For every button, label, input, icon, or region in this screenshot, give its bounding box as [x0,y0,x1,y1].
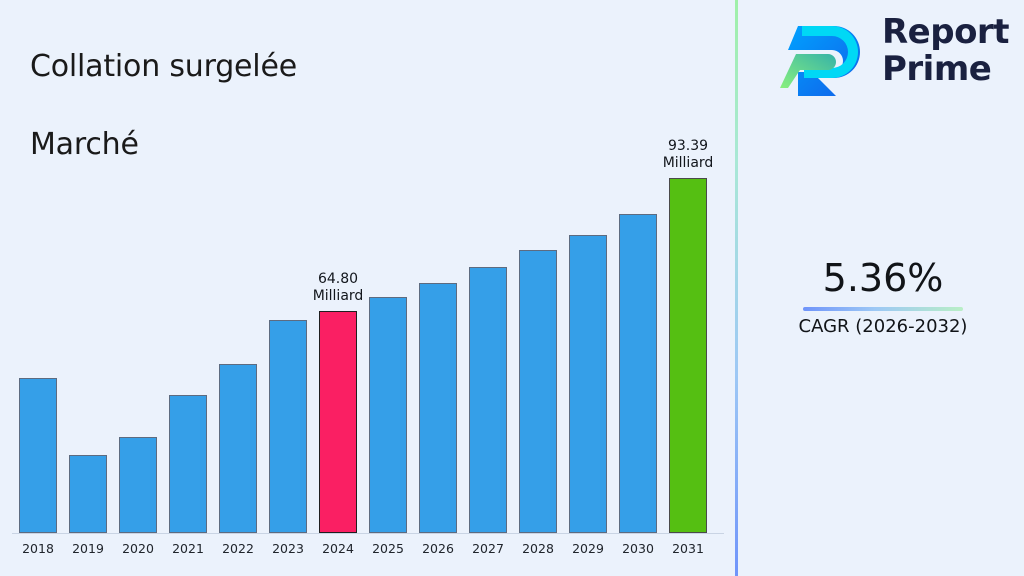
cagr-divider [803,307,963,311]
bar-chart: 64.80Milliard93.39Milliard 2018201920202… [0,0,735,576]
chart-page: Collation surgelée Marché 64.80Milliard9… [0,0,1024,576]
x-axis-line [12,533,724,534]
brand-logo: Report Prime [778,12,1008,98]
bar-2025 [369,297,407,533]
brand-name-line-2: Prime [882,51,1009,88]
bar-2027 [469,267,507,533]
bar-2020 [119,437,157,533]
bar-2026 [419,283,457,533]
bar-2031 [669,178,707,533]
bar-2023 [269,320,307,533]
cagr-caption: CAGR (2026-2032) [752,315,1014,339]
bar-label-2024: 64.80Milliard [283,271,393,305]
bar-2028 [519,250,557,533]
report-prime-logo-icon [778,16,874,96]
bar-2019 [69,455,107,533]
bar-2018 [19,378,57,533]
cagr-block: 5.36% CAGR (2026-2032) [752,255,1014,339]
bar-label-value-2024: 64.80 [283,271,393,288]
bar-label-unit-2024: Milliard [283,288,393,305]
cagr-value: 5.36% [752,255,1014,301]
bar-2030 [619,214,657,533]
panel-divider [735,0,738,576]
brand-name-line-1: Report [882,14,1009,51]
bar-label-2031: 93.39Milliard [633,138,743,172]
bar-2029 [569,235,607,533]
bar-2022 [219,364,257,533]
brand-name: Report Prime [882,14,1009,88]
bar-label-unit-2031: Milliard [633,155,743,172]
x-tick-2031: 2031 [658,541,718,556]
bar-2024 [319,311,357,533]
bar-2021 [169,395,207,533]
bar-label-value-2031: 93.39 [633,138,743,155]
